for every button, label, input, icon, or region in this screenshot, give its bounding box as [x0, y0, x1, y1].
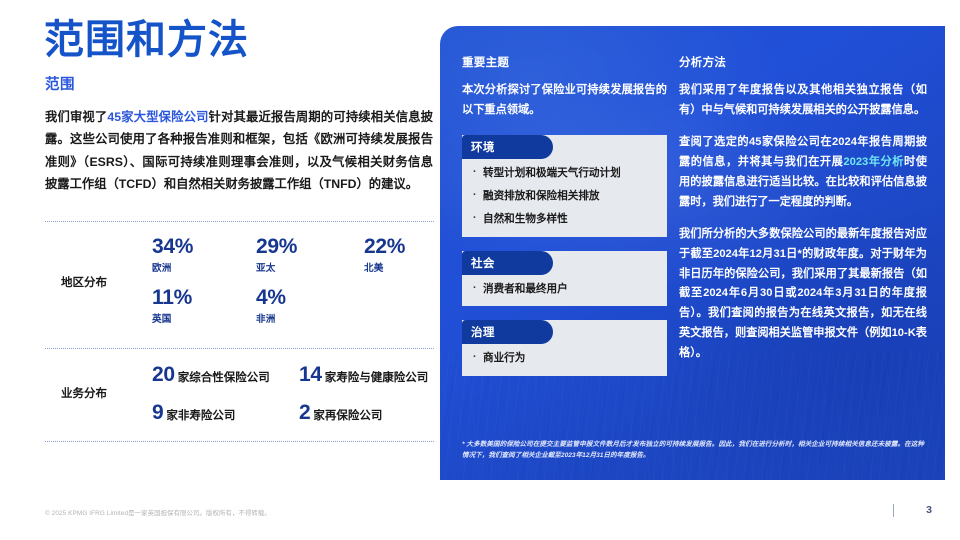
business-row-label: 业务分布 [61, 385, 107, 401]
blue-content-panel: 重要主题 本次分析探讨了保险业可持续发展报告的以下重点领域。 环境 转型计划和极… [440, 26, 945, 480]
region-stat-label: 亚太 [256, 260, 297, 274]
region-stat-label: 英国 [152, 311, 192, 325]
esg-card-governance: 治理 商业行为 [462, 320, 667, 376]
esg-card-body: 转型计划和极端天气行动计划 融资排放和保险相关排放 自然和生物多样性 [462, 159, 667, 237]
divider-middle [45, 348, 434, 349]
method-para2-link[interactable]: 2023年分析 [843, 156, 904, 168]
section-label-scope: 范围 [45, 73, 75, 94]
business-stat-value: 9 [152, 401, 163, 424]
business-stat-label: 家再保险公司 [313, 410, 382, 422]
footer-copyright: © 2025 KPMG IFRG Limited是一家英国担保有限公司。版权所有… [45, 508, 271, 517]
region-stat-item: 29% 亚太 [256, 236, 297, 274]
method-paragraph-2: 查阅了选定的45家保险公司在2024年报告周期披露的信息，并将其与我们在开展20… [679, 133, 927, 213]
region-stat-label: 非洲 [256, 311, 286, 325]
method-heading: 分析方法 [679, 54, 927, 70]
footer-divider [893, 504, 894, 517]
region-stat-item: 11% 英国 [152, 287, 192, 325]
region-stat-item: 22% 北美 [364, 236, 405, 274]
region-stat-label: 欧洲 [152, 260, 193, 274]
divider-bottom [45, 441, 434, 442]
business-stat-item: 9家非寿险公司 [152, 401, 235, 425]
page-title: 范围和方法 [44, 18, 249, 62]
intro-highlight: 45家大型保险公司 [107, 110, 208, 124]
panel-topics-column: 重要主题 本次分析探讨了保险业可持续发展报告的以下重点领域。 环境 转型计划和极… [462, 54, 667, 376]
business-stat-item: 20家综合性保险公司 [152, 363, 270, 387]
esg-card-body: 消费者和最终用户 [462, 275, 667, 307]
esg-list-item: 消费者和最终用户 [472, 282, 659, 298]
intro-prefix: 我们审视了 [45, 110, 107, 124]
business-stat-label: 家寿险与健康险公司 [325, 372, 429, 384]
region-stat-value: 29% [256, 236, 297, 258]
esg-list-item: 商业行为 [472, 351, 659, 367]
method-paragraph-1: 我们采用了年度报告以及其他相关独立报告（如有）中与气候和可持续发展相关的公开披露… [679, 81, 927, 121]
panel-inner: 重要主题 本次分析探讨了保险业可持续发展报告的以下重点领域。 环境 转型计划和极… [440, 26, 945, 480]
divider-top [45, 221, 434, 222]
panel-footnote: * 大多数美国的保险公司在提交主要监管申报文件数月后才发布独立的可持续发展报告。… [462, 439, 924, 462]
topics-heading: 重要主题 [462, 54, 667, 70]
esg-tab-label: 治理 [462, 320, 553, 344]
business-stat-value: 2 [299, 401, 310, 424]
region-stat-value: 34% [152, 236, 193, 258]
region-stat-value: 22% [364, 236, 405, 258]
region-distribution-block: 地区分布 34% 欧洲 29% 亚太 22% 北美 11% 英国 [44, 230, 434, 340]
business-stat-value: 20 [152, 363, 175, 386]
business-stat-item: 14家寿险与健康险公司 [299, 363, 428, 387]
region-stat-item: 4% 非洲 [256, 287, 286, 325]
esg-card-social: 社会 消费者和最终用户 [462, 251, 667, 307]
panel-method-column: 分析方法 我们采用了年度报告以及其他相关独立报告（如有）中与气候和可持续发展相关… [679, 54, 927, 376]
esg-list-item: 融资排放和保险相关排放 [472, 189, 659, 205]
business-distribution-block: 业务分布 20家综合性保险公司 14家寿险与健康险公司 9家非寿险公司 2家再保… [44, 357, 434, 437]
business-stat-label: 家综合性保险公司 [178, 372, 270, 384]
region-row-label: 地区分布 [61, 274, 107, 290]
esg-card-body: 商业行为 [462, 344, 667, 376]
left-content-column: 范围和方法 范围 我们审视了45家大型保险公司针对其最近报告周期的可持续相关信息… [44, 0, 434, 540]
esg-list-item: 自然和生物多样性 [472, 212, 659, 228]
region-stat-item: 34% 欧洲 [152, 236, 193, 274]
business-stat-value: 14 [299, 363, 322, 386]
business-stat-item: 2家再保险公司 [299, 401, 382, 425]
region-stat-label: 北美 [364, 260, 405, 274]
esg-card-environment: 环境 转型计划和极端天气行动计划 融资排放和保险相关排放 自然和生物多样性 [462, 135, 667, 237]
method-paragraph-3: 我们所分析的大多数保险公司的最新年度报告对应于截至2024年12月31日*的财政… [679, 225, 927, 365]
page-number: 3 [926, 504, 932, 516]
topics-intro: 本次分析探讨了保险业可持续发展报告的以下重点领域。 [462, 81, 667, 121]
intro-paragraph: 我们审视了45家大型保险公司针对其最近报告周期的可持续相关信息披露。这些公司使用… [45, 106, 433, 196]
esg-tab-label: 社会 [462, 251, 553, 275]
region-stat-value: 4% [256, 287, 286, 309]
business-stat-label: 家非寿险公司 [166, 410, 235, 422]
esg-tab-label: 环境 [462, 135, 553, 159]
slide-root: 范围和方法 范围 我们审视了45家大型保险公司针对其最近报告周期的可持续相关信息… [0, 0, 960, 540]
esg-list-item: 转型计划和极端天气行动计划 [472, 166, 659, 182]
region-stat-value: 11% [152, 287, 192, 309]
